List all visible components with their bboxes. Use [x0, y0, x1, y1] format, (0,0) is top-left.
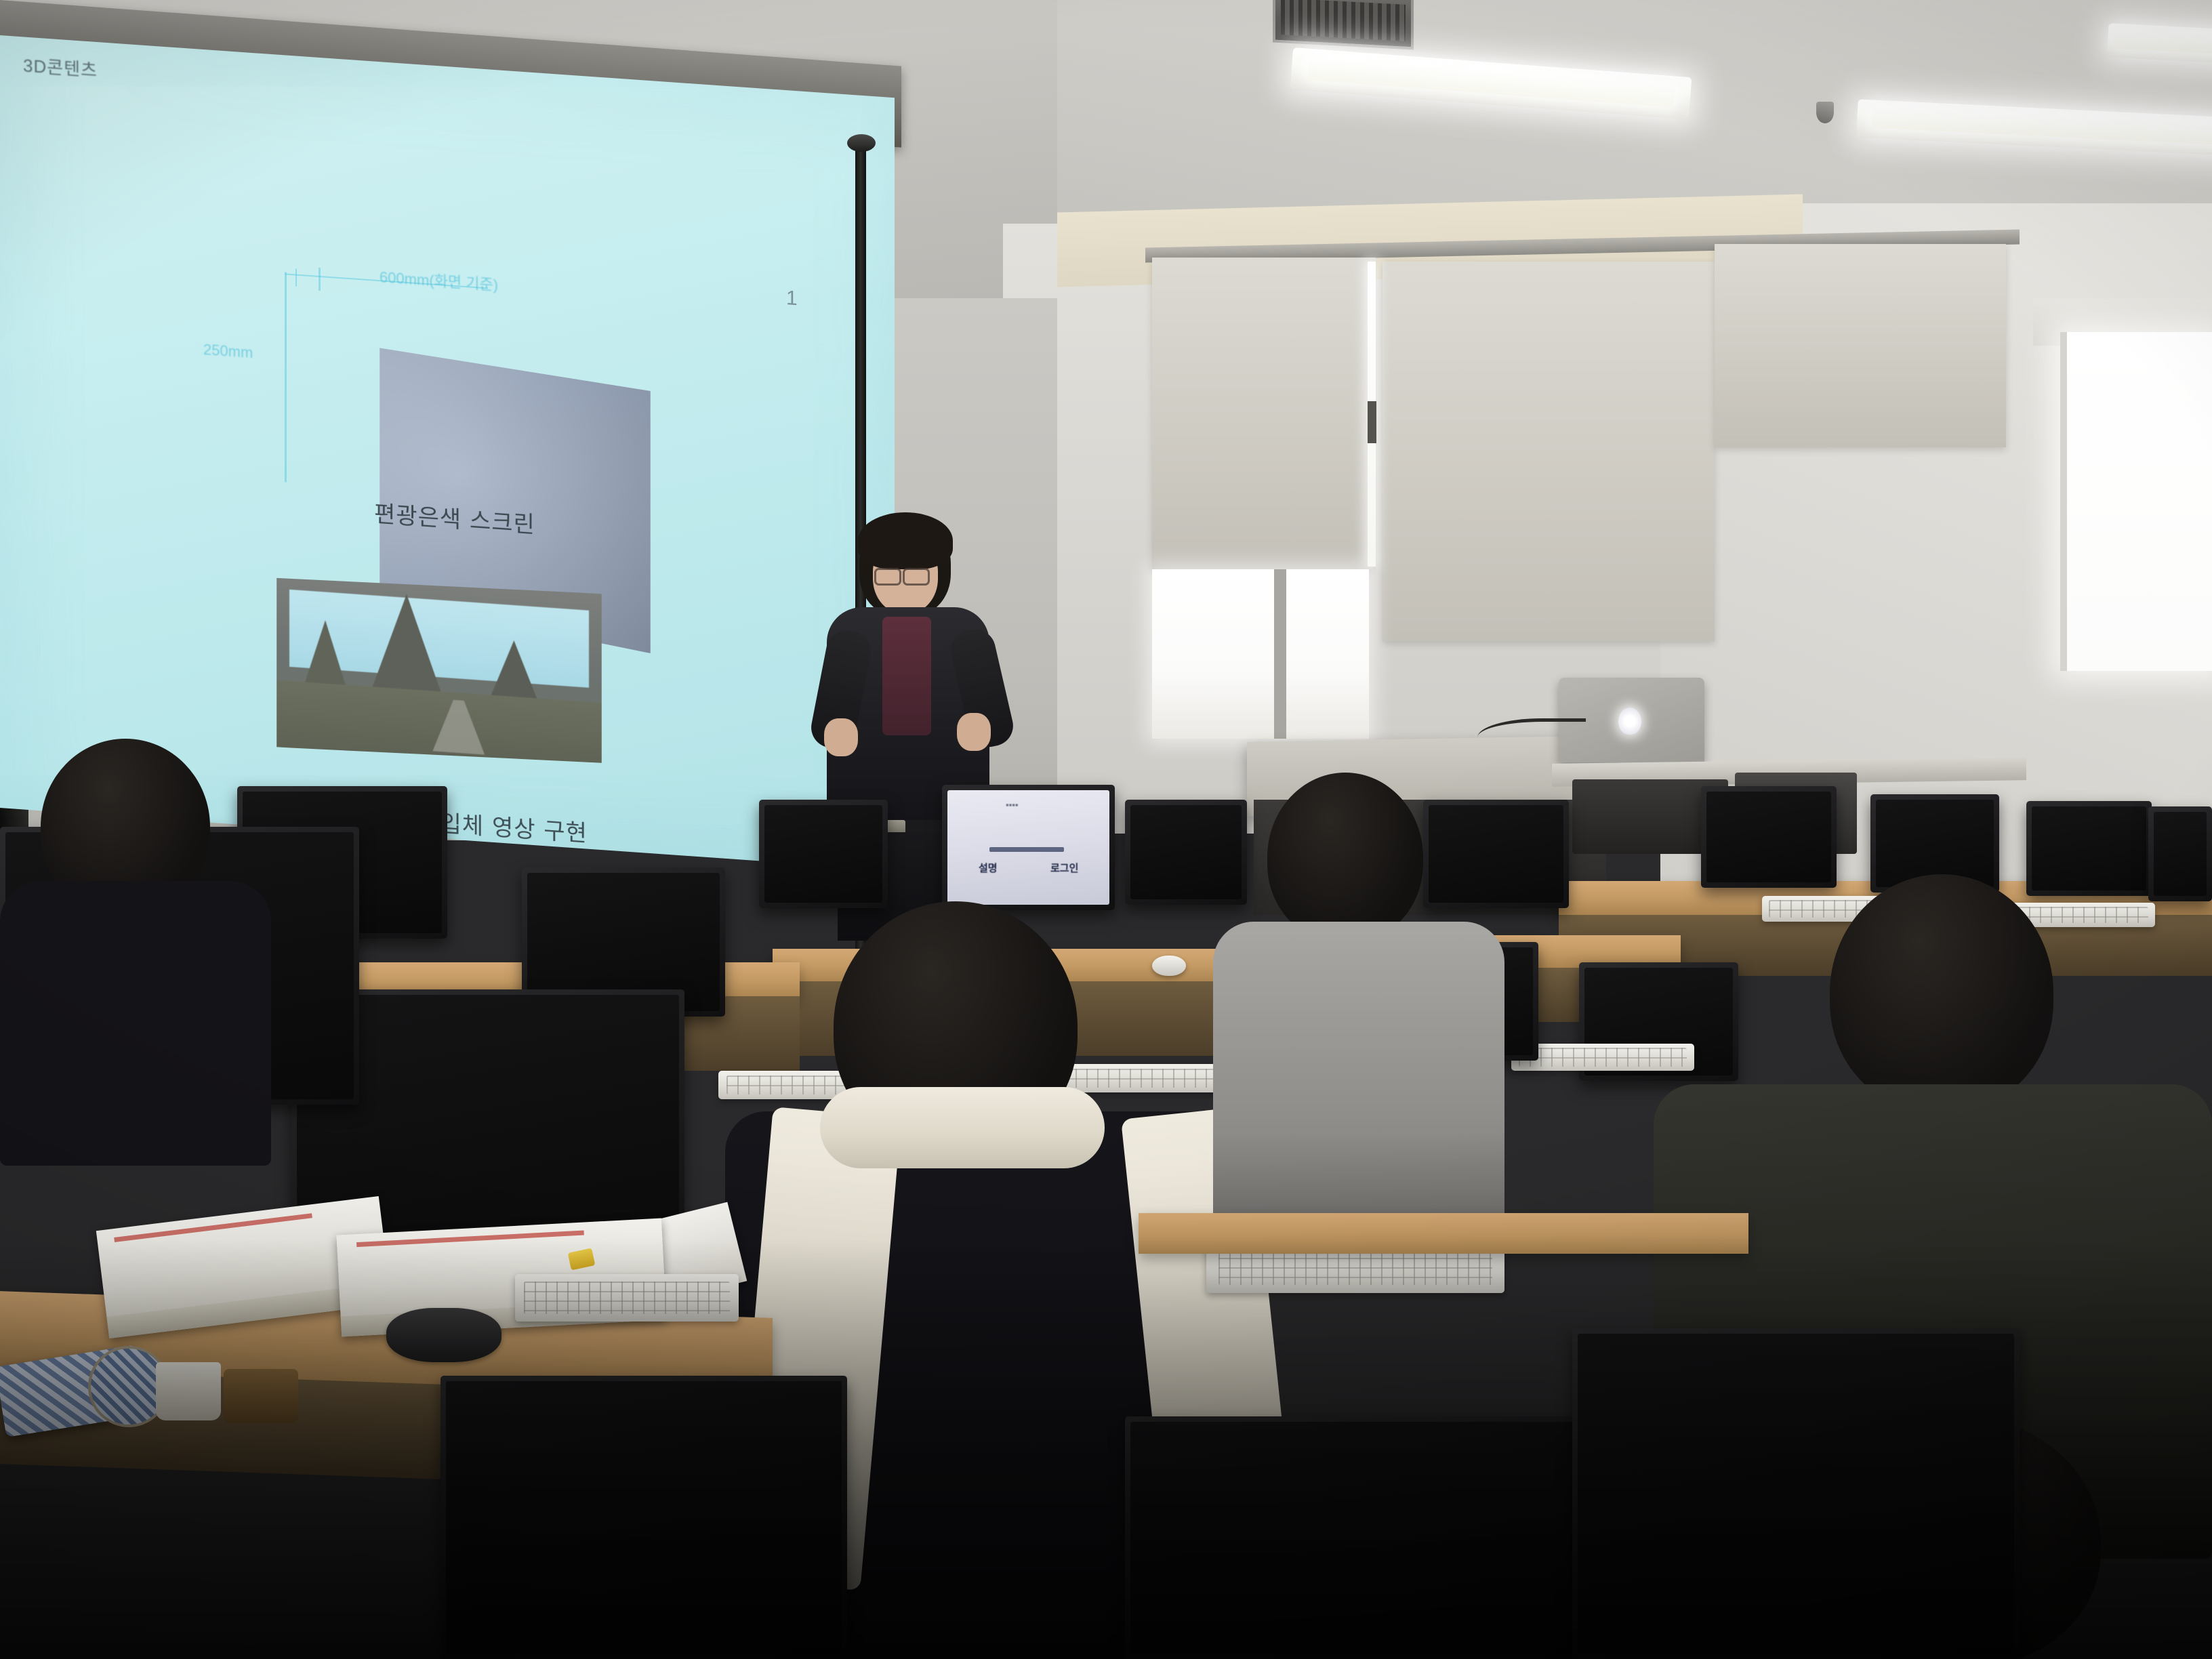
monitor-text-2: 로그인 — [1050, 861, 1078, 875]
forest-road-photo-illustration — [276, 571, 602, 771]
monitor — [1423, 800, 1569, 908]
roller-blind[interactable] — [1382, 262, 1715, 641]
air-vent-icon — [1273, 0, 1414, 49]
black-mouse-foreground[interactable] — [386, 1308, 501, 1362]
dimension-line-vertical — [285, 272, 287, 482]
glasses-icon — [874, 568, 901, 586]
monitor-foreground-bottom — [441, 1376, 847, 1659]
window-pane-far — [2060, 332, 2212, 671]
monitor — [2026, 801, 2152, 896]
sprinkler-head-icon — [1816, 102, 1834, 123]
monitor — [1701, 786, 1837, 888]
monitor-bottom-right-edge — [1572, 1328, 2020, 1659]
monitor-top-text: ▪▪▪▪ — [1006, 800, 1018, 810]
instructor-hand-right — [957, 713, 991, 751]
monitor-foreground-bottom-right — [1125, 1416, 1613, 1659]
blind-gap-shadow — [1368, 401, 1376, 443]
keyboard-foreground[interactable] — [515, 1274, 739, 1322]
window-mullion — [1274, 569, 1286, 739]
slide-header-text: 3D콘텐츠 — [23, 52, 98, 82]
classroom-scene: 3D콘텐츠 1 600mm(화면 기준) 250mm 편광은색 스크린 편광안경… — [0, 0, 2212, 1659]
roller-blind[interactable] — [1715, 244, 2006, 447]
paper-cup[interactable] — [156, 1362, 221, 1420]
keyboard[interactable] — [1511, 1044, 1694, 1071]
glasses-icon — [903, 568, 930, 586]
slide-page-number: 1 — [786, 287, 798, 310]
instructor-hand-left — [824, 718, 858, 756]
mouse[interactable] — [1152, 956, 1186, 976]
dimension-tick — [319, 268, 321, 291]
instructor-hair — [858, 512, 953, 569]
scarf-neck — [820, 1087, 1105, 1168]
dimension-label-width: 600mm(화면 기준) — [380, 265, 498, 295]
instructor-shirt — [882, 617, 931, 735]
window-pane — [1152, 569, 1369, 739]
desk-center-bottom — [1139, 1213, 1748, 1254]
student-right-head — [1830, 874, 2053, 1111]
student-mid-right-body — [1213, 922, 1504, 1220]
monitor-text-1: 설명 — [979, 861, 998, 875]
screen-pole-knob[interactable] — [847, 134, 876, 152]
student-mid-right-head — [1267, 773, 1423, 942]
monitor — [2148, 806, 2212, 901]
apple-logo-icon — [1618, 708, 1641, 735]
monitor-with-webpage: ▪▪▪▪ 설명 로그인 — [942, 785, 1115, 910]
dimension-tick — [295, 268, 297, 286]
dimension-label-height: 250mm — [203, 341, 253, 362]
monitor — [759, 800, 888, 908]
wooden-object — [224, 1369, 298, 1423]
monitor — [1125, 800, 1247, 905]
student-left-front-body — [0, 881, 271, 1166]
roller-blind[interactable] — [1152, 258, 1376, 569]
